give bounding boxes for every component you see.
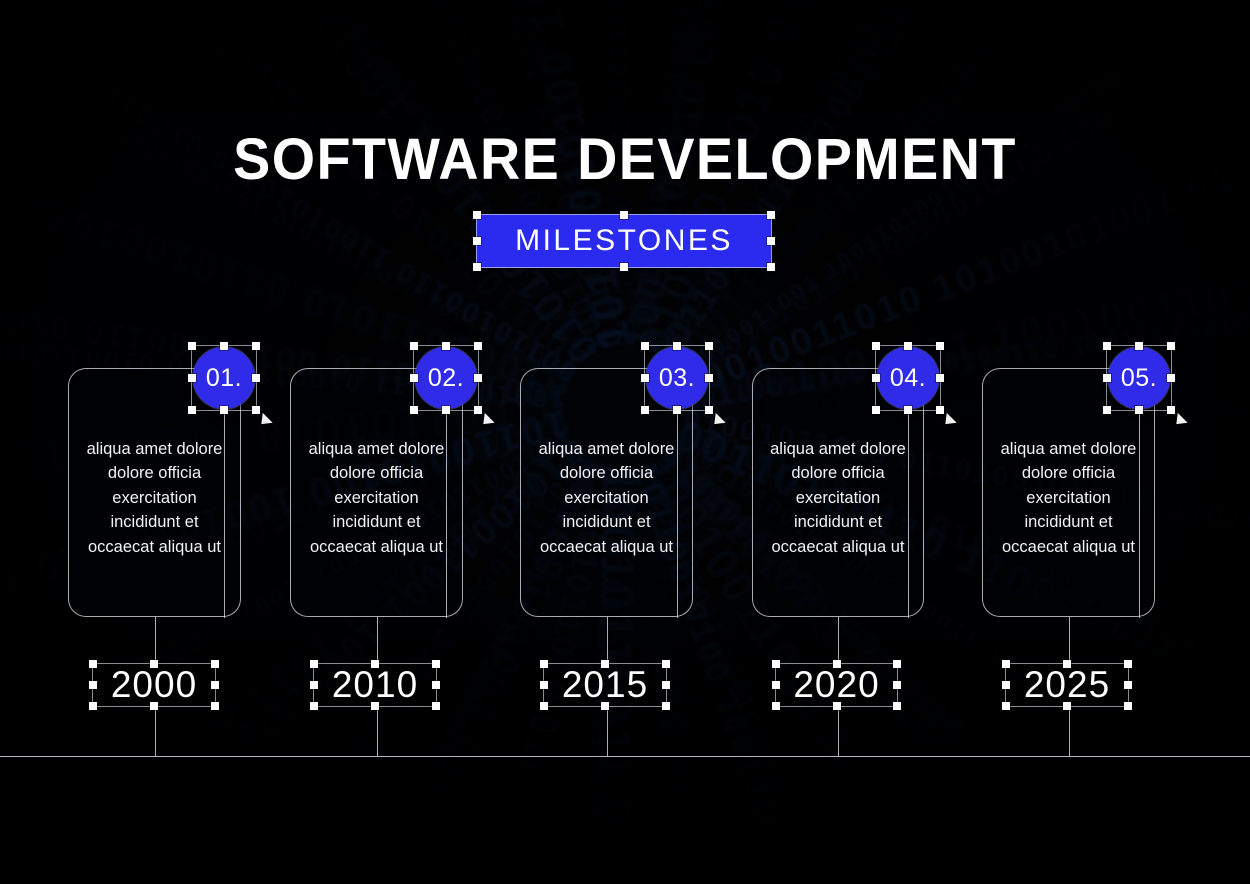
milestone-card-text: aliqua amet dolore dolore officia exerci… (991, 437, 1146, 559)
milestone-card-text: aliqua amet dolore dolore officia exerci… (761, 437, 915, 559)
connector-circle-to-card (446, 407, 447, 618)
slide-canvas[interactable]: 10010100110 00110100110 0100101101010010… (0, 0, 1250, 884)
connector-year-to-baseline (377, 707, 378, 756)
milestone-card-text: aliqua amet dolore dolore officia exerci… (529, 437, 684, 559)
timeline-baseline (0, 756, 1250, 757)
milestone-number-badge[interactable]: 03. (646, 347, 708, 409)
connector-card-to-year (838, 617, 839, 663)
connector-circle-to-card (1139, 407, 1140, 618)
milestone-number-label: 01. (206, 364, 242, 393)
milestones-banner[interactable]: MILESTONES (476, 214, 772, 268)
connector-card-to-year (155, 617, 156, 663)
connector-circle-to-card (908, 407, 909, 618)
milestone-year-label[interactable]: 2025 (1005, 663, 1129, 707)
milestone-number-badge[interactable]: 05. (1108, 347, 1170, 409)
connector-card-to-year (607, 617, 608, 663)
milestones-banner-label: MILESTONES (476, 214, 772, 268)
milestone-year-label[interactable]: 2000 (92, 663, 216, 707)
connector-circle-to-card (224, 407, 225, 618)
connector-year-to-baseline (1069, 707, 1070, 756)
milestone-number-badge[interactable]: 04. (877, 347, 939, 409)
milestone-card-text: aliqua amet dolore dolore officia exerci… (77, 437, 232, 559)
connector-circle-to-card (677, 407, 678, 618)
connector-card-to-year (1069, 617, 1070, 663)
connector-card-to-year (377, 617, 378, 663)
milestone-number-badge[interactable]: 02. (415, 347, 477, 409)
milestone-year-label[interactable]: 2015 (543, 663, 667, 707)
milestone-year-label[interactable]: 2020 (775, 663, 898, 707)
milestone-year-label[interactable]: 2010 (313, 663, 437, 707)
milestone-number-label: 03. (659, 364, 695, 393)
milestone-number-label: 04. (890, 364, 926, 393)
milestone-number-label: 02. (428, 364, 464, 393)
connector-year-to-baseline (838, 707, 839, 756)
connector-year-to-baseline (607, 707, 608, 756)
milestone-card-text: aliqua amet dolore dolore officia exerci… (299, 437, 454, 559)
connector-year-to-baseline (155, 707, 156, 756)
page-title: SOFTWARE DEVELOPMENT (25, 129, 1225, 191)
milestone-number-badge[interactable]: 01. (193, 347, 255, 409)
milestone-number-label: 05. (1121, 364, 1157, 393)
